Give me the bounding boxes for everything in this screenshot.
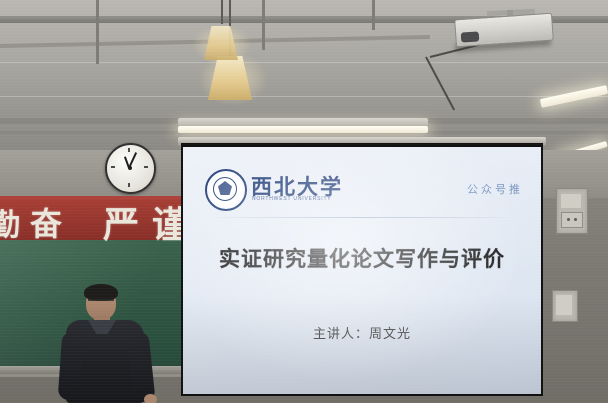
ceiling-pipe — [372, 0, 375, 30]
projection-screen-frame: 西北大学 NORTHWEST UNIVERSITY 公众号推 实证研究量化论文写… — [181, 143, 543, 396]
fluorescent-fixture — [178, 118, 428, 126]
clock-center-pin — [128, 166, 132, 170]
socket-hole — [574, 218, 577, 221]
slide-title: 实证研究量化论文写作与评价 — [183, 243, 541, 273]
clock-tick — [128, 183, 130, 187]
blackboard-character: 严 — [103, 196, 139, 248]
projection-screen: 西北大学 NORTHWEST UNIVERSITY 公众号推 实证研究量化论文写… — [183, 147, 541, 394]
seal-inner-mark-icon — [218, 181, 232, 195]
projector-lens-icon — [461, 31, 480, 42]
slide-corner-badge: 公众号推 — [467, 181, 523, 197]
slide-divider — [209, 217, 515, 218]
blackboard-character: 勤 — [0, 200, 20, 244]
university-seal-icon — [205, 169, 247, 211]
university-name-en: NORTHWEST UNIVERSITY — [252, 196, 331, 202]
ceiling-seam — [0, 62, 608, 63]
clock-tick — [144, 166, 148, 168]
ceiling-pipe — [96, 0, 99, 64]
slide-presenter: 主讲人：周文光 — [183, 323, 541, 342]
wall-socket[interactable] — [561, 212, 583, 228]
wall-clock — [105, 143, 156, 194]
clock-tick — [111, 166, 115, 168]
wall-panel-inner — [561, 194, 581, 208]
ceiling-pipe — [262, 0, 265, 50]
ceiling-projector — [447, 10, 557, 50]
pendant-lamp-cord — [221, 0, 223, 24]
slide-logo: 西北大学 NORTHWEST UNIVERSITY — [205, 169, 355, 209]
classroom-photo: 勤 奋 严 谨 西北大学 NORTHWEST UNIVERSITY 公众号推 实… — [0, 0, 608, 403]
wall-panel-lower-inner — [556, 295, 572, 315]
blackboard-character: 奋 — [30, 199, 62, 245]
lecturer-left-arm — [58, 331, 85, 400]
lecturer — [58, 286, 178, 403]
fluorescent-tube — [178, 126, 428, 133]
ceiling-seam — [0, 96, 608, 97]
glasses-icon — [88, 299, 114, 308]
lecturer-hand — [144, 394, 157, 403]
clock-tick — [128, 148, 130, 152]
socket-hole — [567, 218, 570, 221]
